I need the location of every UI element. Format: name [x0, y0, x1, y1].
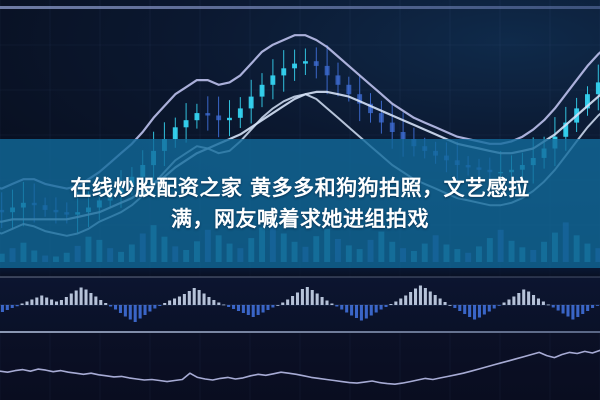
headline-line-1: 在线炒股配资之家 黄多多和狗狗拍照，文艺感拉 — [70, 173, 529, 204]
index-line-svg — [0, 333, 600, 400]
index-line-panel — [0, 333, 600, 400]
band-shadow — [0, 268, 600, 278]
macd-panel — [0, 277, 600, 333]
headline-overlay-band: 在线炒股配资之家 黄多多和狗狗拍照，文艺感拉 满，网友喊着求她进组拍戏 — [0, 139, 600, 268]
macd-bottom-separator — [0, 331, 600, 333]
headline-line-2: 满，网友喊着求她进组拍戏 — [171, 204, 429, 235]
banner-image: 在线炒股配资之家 黄多多和狗狗拍照，文艺感拉 满，网友喊着求她进组拍戏 — [0, 0, 600, 400]
top-rule — [0, 6, 600, 9]
macd-histogram-svg — [0, 277, 600, 333]
